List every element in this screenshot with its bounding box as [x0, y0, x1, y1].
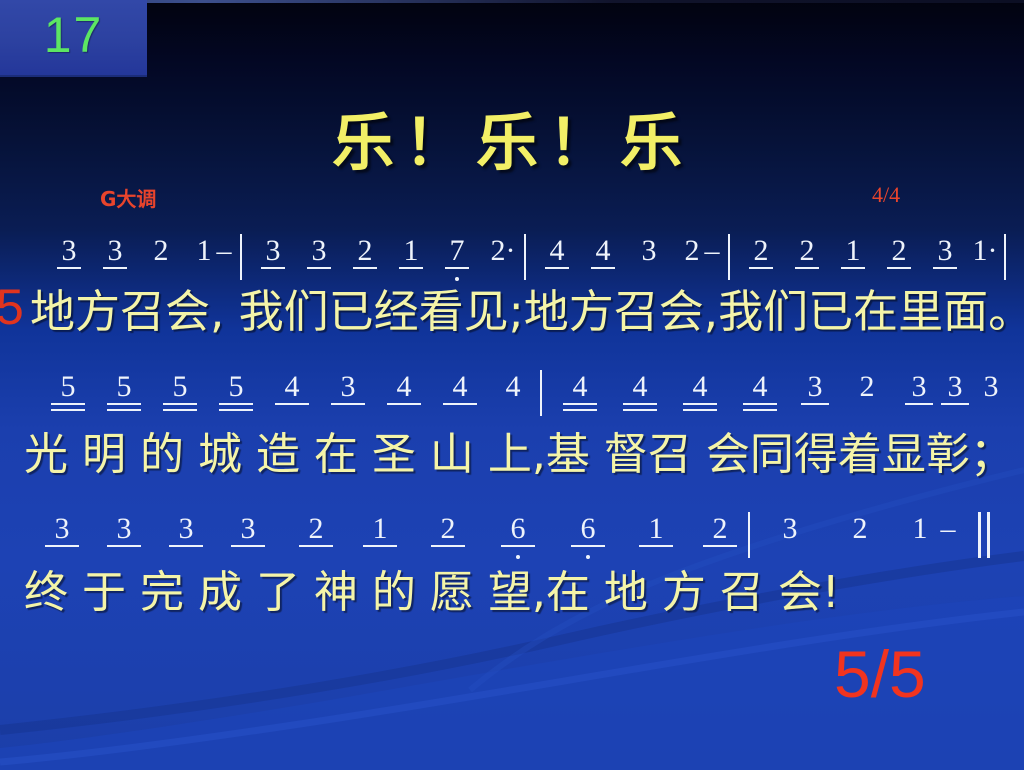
note-value: – [934, 514, 962, 544]
note-value: 2 [342, 236, 388, 266]
note-beam-underline [51, 409, 85, 411]
note-value: 3 [626, 236, 672, 266]
note-beam-underline [51, 403, 85, 405]
note-beam-underline [841, 267, 865, 269]
note-beam-underline [941, 403, 969, 405]
note-glyph: 4 [612, 372, 668, 402]
note-glyph: 4 [732, 372, 788, 402]
key-signature-label: G大调 [100, 183, 156, 212]
note-value: 2 [288, 514, 344, 544]
note-value: 6 [560, 514, 616, 544]
note-beam-underline [107, 545, 141, 547]
note-glyph: 2 [832, 514, 888, 544]
note-glyph: 1· [962, 236, 1008, 266]
note-beam-underline [545, 267, 569, 269]
note-value: 4 [264, 372, 320, 402]
note-beam-underline [45, 545, 79, 547]
note-value: 3 [46, 236, 92, 266]
page-marker: 5/5 [834, 636, 926, 712]
note-value: 3 [250, 236, 296, 266]
note-glyph: 2 [288, 514, 344, 544]
note-value: 2 [692, 514, 748, 544]
note-glyph: 4 [580, 236, 626, 266]
note-beam-underline [363, 545, 397, 547]
note-value: 3 [92, 236, 138, 266]
note-glyph: 3 [46, 236, 92, 266]
note-value: 3 [220, 514, 276, 544]
note-beam-underline [571, 545, 605, 547]
note-value: 1 [830, 236, 876, 266]
note-beam-underline [703, 545, 737, 547]
barline [524, 234, 526, 280]
note-glyph: 2 [420, 514, 476, 544]
note-value: 3 [96, 514, 152, 544]
note-value: 3 [34, 514, 90, 544]
note-beam-underline [399, 267, 423, 269]
note-beam-underline [795, 267, 819, 269]
note-value: 3 [158, 514, 214, 544]
top-highlight-line [0, 0, 1024, 3]
note-beam-underline [331, 403, 365, 405]
note-glyph: 3 [320, 372, 376, 402]
note-value: 5 [40, 372, 96, 402]
note-beam-underline [743, 409, 777, 411]
notation-row-2: 555543444444432333 [0, 372, 1024, 420]
note-value: 4 [672, 372, 728, 402]
note-value: 1 [388, 236, 434, 266]
note-value: 3 [320, 372, 376, 402]
note-glyph: 2 [842, 372, 892, 402]
note-glyph: 6 [490, 514, 546, 544]
note-extension-dash: – [212, 236, 236, 266]
note-beam-underline [431, 545, 465, 547]
verse-number-label: 5 [0, 278, 24, 336]
note-beam-underline [57, 267, 81, 269]
note-beam-underline [231, 545, 265, 547]
note-beam-underline [219, 403, 253, 405]
note-beam-underline [353, 267, 377, 269]
note-glyph: 4 [552, 372, 608, 402]
note-glyph: 2 [784, 236, 830, 266]
note-value: 4 [580, 236, 626, 266]
note-glyph: 3 [250, 236, 296, 266]
note-value: 4 [552, 372, 608, 402]
note-beam-underline [443, 403, 477, 405]
slide-number-text: 17 [0, 6, 147, 64]
note-beam-underline [623, 403, 657, 405]
note-value: 3 [790, 372, 840, 402]
note-glyph: 1 [388, 236, 434, 266]
note-value: 4 [432, 372, 488, 402]
note-beam-underline [219, 409, 253, 411]
note-beam-underline [591, 267, 615, 269]
note-value: 5 [96, 372, 152, 402]
note-glyph: 4 [534, 236, 580, 266]
note-glyph: 2 [692, 514, 748, 544]
note-beam-underline [163, 403, 197, 405]
page-title: 乐！乐！乐 [0, 92, 1024, 182]
barline [240, 234, 242, 280]
note-glyph: 5 [40, 372, 96, 402]
lyrics-row-3: 终 于 完 成 了 神 的 愿 望,在 地 方 召 会! [24, 556, 1024, 620]
barline [728, 234, 730, 280]
barline [748, 512, 750, 558]
note-value: 2 [876, 236, 922, 266]
note-glyph: 4 [488, 372, 538, 402]
lyrics-row-2: 光 明 的 城 造 在 圣 山 上,基 督召 会同得着显彰； [24, 418, 1024, 482]
note-glyph: 4 [672, 372, 728, 402]
note-value: 4 [732, 372, 788, 402]
note-beam-underline [299, 545, 333, 547]
note-glyph: 3 [96, 514, 152, 544]
note-glyph: 7 [434, 236, 480, 266]
note-beam-underline [639, 545, 673, 547]
note-beam-underline [743, 403, 777, 405]
note-beam-underline [275, 403, 309, 405]
note-glyph: 4 [432, 372, 488, 402]
double-barline [978, 512, 981, 558]
note-value: 2 [420, 514, 476, 544]
note-glyph: 3 [92, 236, 138, 266]
note-value: 2 [832, 514, 888, 544]
note-beam-underline [445, 267, 469, 269]
note-value: 2 [138, 236, 184, 266]
note-value: 4 [534, 236, 580, 266]
note-glyph: 2 [138, 236, 184, 266]
note-glyph: 1 [628, 514, 684, 544]
note-value: 4 [376, 372, 432, 402]
note-value: – [212, 236, 236, 266]
note-glyph: 5 [96, 372, 152, 402]
note-glyph: 3 [626, 236, 672, 266]
note-value: 1· [962, 236, 1008, 266]
note-beam-underline [749, 267, 773, 269]
note-glyph: 3 [158, 514, 214, 544]
note-value: 1 [352, 514, 408, 544]
note-beam-underline [169, 545, 203, 547]
lyrics-row-1: 地方召会, 我们已经看见;地方召会,我们已在里面。 [30, 275, 1024, 340]
note-beam-underline [683, 409, 717, 411]
note-value: 1 [628, 514, 684, 544]
note-value: 4 [488, 372, 538, 402]
note-value: 2 [842, 372, 892, 402]
note-glyph: 2· [480, 236, 526, 266]
song-slide: 17 乐！乐！乐 G大调 4/4 5 3321–332172·4432–2212… [0, 0, 1024, 770]
note-extension-dash: – [934, 514, 962, 544]
notation-row-3: 33332126612321– [0, 514, 1024, 562]
time-signature-label: 4/4 [872, 182, 900, 208]
note-value: 7 [434, 236, 480, 266]
note-beam-underline [307, 267, 331, 269]
note-glyph: 3 [34, 514, 90, 544]
note-value: 3 [762, 514, 818, 544]
note-beam-underline [683, 403, 717, 405]
note-beam-underline [887, 267, 911, 269]
note-beam-underline [387, 403, 421, 405]
note-glyph: 6 [560, 514, 616, 544]
note-value: 5 [208, 372, 264, 402]
note-glyph: 4 [264, 372, 320, 402]
note-value: – [700, 236, 724, 266]
note-glyph: 5 [152, 372, 208, 402]
double-barline [987, 512, 990, 558]
barline [1004, 234, 1006, 280]
note-beam-underline [563, 403, 597, 405]
note-beam-underline [801, 403, 829, 405]
note-glyph: 3 [220, 514, 276, 544]
note-value: 3 [296, 236, 342, 266]
note-glyph: 5 [208, 372, 264, 402]
note-beam-underline [107, 403, 141, 405]
note-glyph: 3 [966, 372, 1016, 402]
note-value: 4 [612, 372, 668, 402]
note-glyph: 3 [762, 514, 818, 544]
note-glyph: 2 [342, 236, 388, 266]
note-beam-underline [261, 267, 285, 269]
note-glyph: 2 [876, 236, 922, 266]
barline [540, 370, 542, 416]
note-value: 2 [738, 236, 784, 266]
note-glyph: 1 [352, 514, 408, 544]
slide-number-badge: 17 [0, 0, 147, 77]
note-glyph: 3 [296, 236, 342, 266]
note-value: 2 [784, 236, 830, 266]
note-glyph: 1 [830, 236, 876, 266]
note-beam-underline [103, 267, 127, 269]
note-beam-underline [623, 409, 657, 411]
note-beam-underline [905, 403, 933, 405]
note-beam-underline [107, 409, 141, 411]
note-value: 2· [480, 236, 526, 266]
note-value: 5 [152, 372, 208, 402]
note-beam-underline [563, 409, 597, 411]
note-beam-underline [163, 409, 197, 411]
note-glyph: 4 [376, 372, 432, 402]
note-extension-dash: – [700, 236, 724, 266]
note-value: 6 [490, 514, 546, 544]
note-glyph: 3 [790, 372, 840, 402]
note-value: 3 [966, 372, 1016, 402]
note-beam-underline [933, 267, 957, 269]
note-beam-underline [501, 545, 535, 547]
note-glyph: 2 [738, 236, 784, 266]
